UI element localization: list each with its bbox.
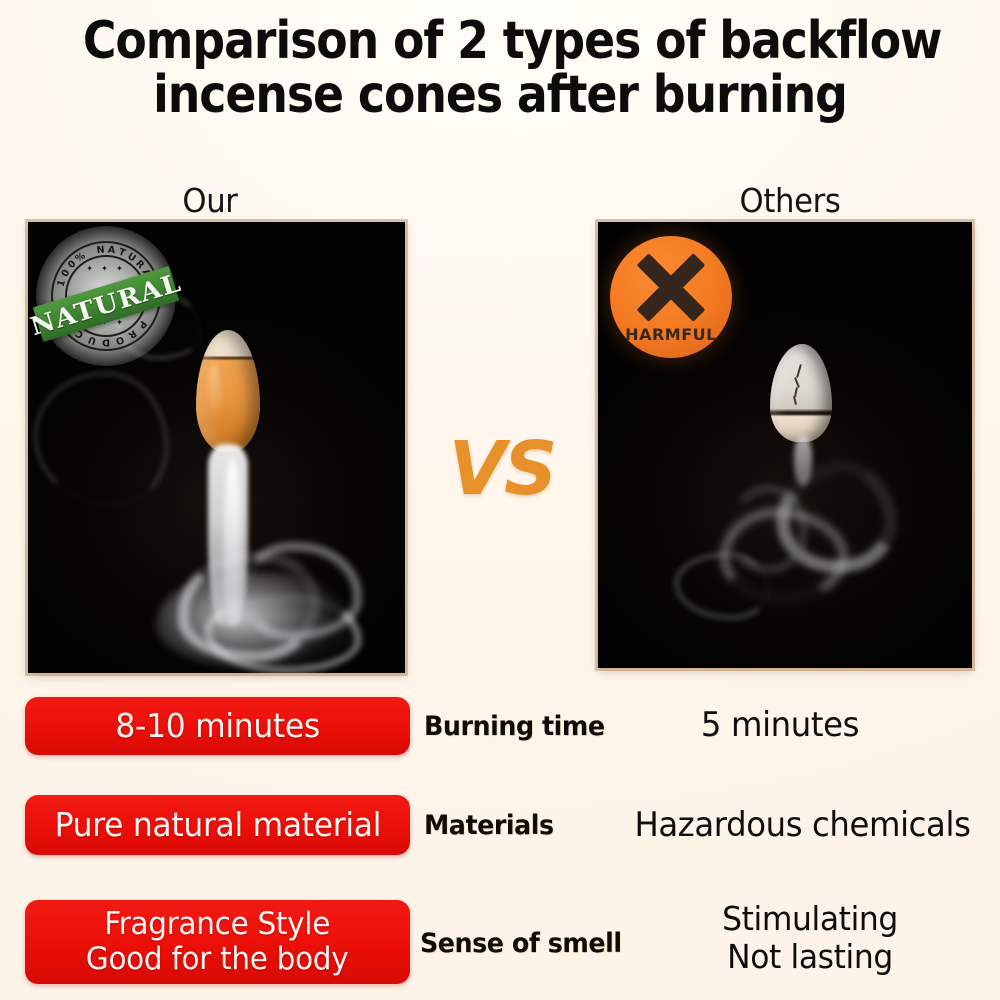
title-line-2: incense cones after burning — [83, 68, 917, 122]
ours-value-pill: Pure natural material — [25, 795, 410, 855]
comparison-row: 8-10 minutes Burning time 5 minutes — [0, 694, 1000, 768]
cone-crack — [793, 396, 797, 405]
ours-value-text: 8-10 minutes — [115, 708, 320, 745]
product-photo-ours: ✦ ✦ ✦ ✦ ✦ ✦ 100% NATURAL PRODUCT NATURAL — [28, 222, 405, 673]
comparison-row: Fragrance Style Good for the body Sense … — [0, 898, 1000, 996]
title-line-1: Comparison of 2 types of backflow — [83, 14, 917, 68]
poster-title: Comparison of 2 types of backflow incens… — [0, 14, 1000, 122]
others-value-text: Stimulating Not lasting — [668, 900, 953, 975]
others-value-line-2: Not lasting — [668, 938, 953, 976]
badge-arc-char: O — [114, 333, 125, 346]
badge-arc-char: U — [87, 334, 98, 347]
feature-label: Sense of smell — [420, 928, 622, 959]
product-photo-others: HARMFUL — [598, 222, 972, 668]
comparison-poster: Comparison of 2 types of backflow incens… — [0, 0, 1000, 1000]
feature-label: Materials — [424, 810, 554, 841]
ours-value-pill: 8-10 minutes — [25, 697, 410, 755]
feature-label: Burning time — [424, 711, 605, 742]
ours-value-pill: Fragrance Style Good for the body — [25, 900, 410, 984]
others-value-text: 5 minutes — [661, 706, 899, 745]
badge-arc-char: D — [102, 337, 110, 348]
harmful-badge-label: HARMFUL — [610, 325, 732, 344]
others-value-text: Hazardous chemicals — [615, 806, 990, 845]
natural-product-badge: ✦ ✦ ✦ ✦ ✦ ✦ 100% NATURAL PRODUCT NATURAL — [44, 234, 168, 358]
versus-label: VS — [412, 432, 592, 506]
ours-value-line-1: Fragrance Style — [86, 907, 348, 942]
comparison-row: Pure natural material Materials Hazardou… — [0, 794, 1000, 864]
badge-arc-char: P — [136, 318, 149, 330]
column-heading-ours: Our — [117, 181, 303, 220]
badge-arc-char: R — [126, 327, 138, 340]
others-value-line-1: Stimulating — [668, 900, 953, 938]
harmful-badge: HARMFUL — [610, 236, 732, 358]
cone-crack — [796, 364, 802, 378]
ours-value-text: Fragrance Style Good for the body — [86, 907, 348, 976]
ours-value-line-2: Good for the body — [86, 942, 348, 977]
column-heading-others: Others — [697, 181, 883, 220]
ours-value-text: Pure natural material — [54, 807, 381, 844]
